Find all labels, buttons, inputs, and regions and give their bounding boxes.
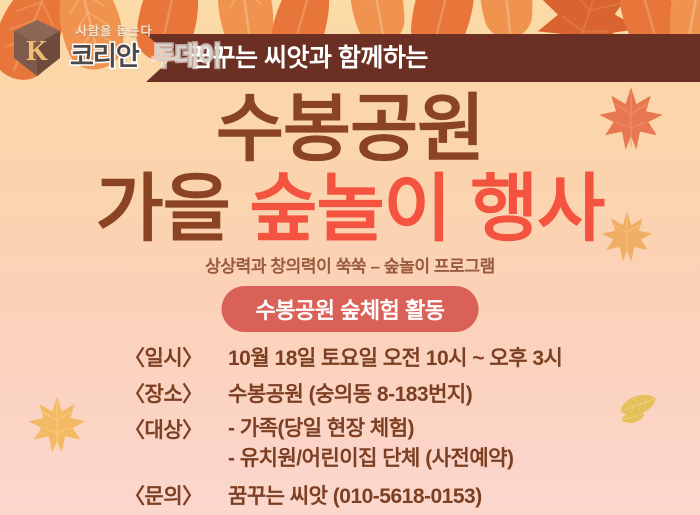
info-row-contact: 〈문의〉 꿈꾸는 씨앗 (010-5618-0153) xyxy=(0,480,700,510)
event-poster: 꿈꾸는 씨앗과 함께하는 K 사람을 돕는다 코리안 투데이 xyxy=(0,0,700,515)
info-label-date: 〈일시〉 xyxy=(124,342,228,372)
page-title-line2: 가을 숲놀이 행사 xyxy=(0,168,700,250)
page-title-line1: 수봉공원 xyxy=(0,88,700,170)
info-row-date: 〈일시〉 10월 18일 토요일 오전 10시 ~ 오후 3시 xyxy=(0,342,700,372)
info-value-target: - 가족(당일 현장 체험) - 유치원/어린이집 단체 (사전예약) xyxy=(228,414,513,474)
ribbon-text: 꿈꾸는 씨앗과 함께하는 xyxy=(190,36,610,80)
status-badge: 수봉공원 숲체험 활동 xyxy=(222,286,479,332)
info-row-place: 〈장소〉 수봉공원 (숭의동 8-183번지) xyxy=(0,378,700,408)
info-value-place: 수봉공원 (숭의동 8-183번지) xyxy=(228,378,472,408)
info-value-target-line2: - 유치원/어린이집 단체 (사전예약) xyxy=(228,444,513,474)
logo-emblem-letter: K xyxy=(26,36,48,67)
page-subtitle: 상상력과 창의력이 쑥쑥 – 숲놀이 프로그램 xyxy=(0,252,700,277)
logo-name-part2: 투데이 xyxy=(152,36,221,73)
info-label-contact: 〈문의〉 xyxy=(124,480,228,510)
info-label-target: 〈대상〉 xyxy=(124,414,228,444)
page-title-line2-coral: 숲놀이 행사 xyxy=(249,167,604,250)
logo-name-part1: 코리안 xyxy=(70,36,139,73)
info-row-target: 〈대상〉 - 가족(당일 현장 체험) - 유치원/어린이집 단체 (사전예약) xyxy=(0,414,700,474)
info-label-place: 〈장소〉 xyxy=(124,378,228,408)
info-value-contact: 꿈꾸는 씨앗 (010-5618-0153) xyxy=(228,480,482,510)
page-title-line2-brown: 가을 xyxy=(96,167,230,250)
info-value-date: 10월 18일 토요일 오전 10시 ~ 오후 3시 xyxy=(228,342,562,372)
korean-today-logo[interactable]: K xyxy=(8,18,66,78)
event-info-list: 〈일시〉 10월 18일 토요일 오전 10시 ~ 오후 3시 〈장소〉 수봉공… xyxy=(0,342,700,515)
info-value-target-line1: - 가족(당일 현장 체험) xyxy=(228,414,513,444)
